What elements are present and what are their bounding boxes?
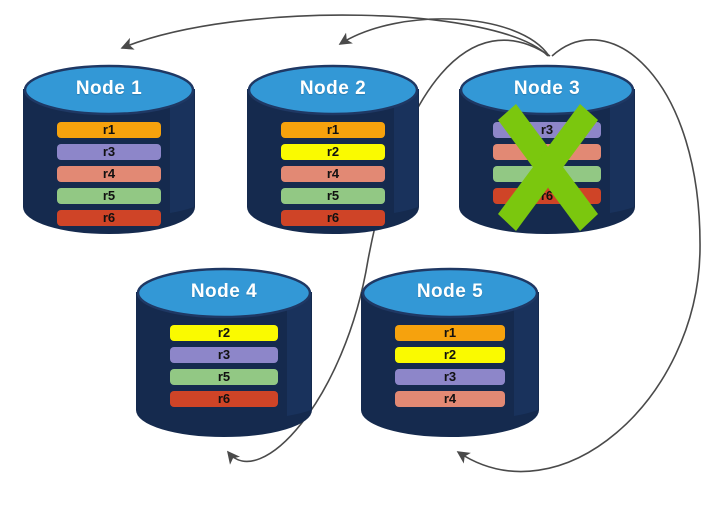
cylinder-top-face (363, 269, 537, 317)
cylinder-top-face (138, 269, 310, 317)
cylinder-top-face (249, 66, 417, 114)
replica-bar-r1[interactable]: r1 (395, 325, 505, 341)
replica-bar-r6[interactable]: r6 (170, 391, 278, 407)
replica-bar-r1[interactable]: r1 (281, 122, 385, 138)
arrow-node3-to-node2 (340, 19, 549, 56)
cylinder-top-face (461, 66, 633, 114)
replica-bar-r3[interactable]: r3 (57, 144, 161, 160)
database-node-1[interactable]: Node 1r1r3r4r5r6 (22, 62, 196, 235)
replica-bar-r3[interactable]: r3 (493, 122, 601, 138)
diagram-canvas: Node 1r1r3r4r5r6Node 2r1r2r4r5r6Node 3r3… (0, 0, 708, 508)
replica-bar-r4[interactable]: r4 (395, 391, 505, 407)
replica-bar-r4[interactable]: r4 (493, 144, 601, 160)
replica-bar-r3[interactable]: r3 (395, 369, 505, 385)
database-node-5[interactable]: Node 5r1r2r3r4 (360, 265, 540, 438)
replica-bar-r2[interactable]: r2 (170, 325, 278, 341)
replica-row-list: r2r3r5r6 (135, 325, 313, 413)
replica-row-list: r1r2r4r5r6 (246, 122, 420, 232)
arrow-node3-to-node1 (122, 15, 548, 56)
replica-bar-r4[interactable]: r4 (57, 166, 161, 182)
replica-bar-r6[interactable]: r6 (281, 210, 385, 226)
replica-row-list: r3r4r5r6 (458, 122, 636, 210)
replica-bar-r1[interactable]: r1 (57, 122, 161, 138)
replica-row-list: r1r2r3r4 (360, 325, 540, 413)
replica-bar-r5[interactable]: r5 (170, 369, 278, 385)
replica-row-list: r1r3r4r5r6 (22, 122, 196, 232)
replica-bar-r4[interactable]: r4 (281, 166, 385, 182)
cylinder-top-face (25, 66, 193, 114)
replica-bar-r5[interactable]: r5 (57, 188, 161, 204)
database-node-3[interactable]: Node 3r3r4r5r6 (458, 62, 636, 235)
database-node-4[interactable]: Node 4r2r3r5r6 (135, 265, 313, 438)
replica-bar-r3[interactable]: r3 (170, 347, 278, 363)
replica-bar-r5[interactable]: r5 (281, 188, 385, 204)
replica-bar-r2[interactable]: r2 (395, 347, 505, 363)
database-node-2[interactable]: Node 2r1r2r4r5r6 (246, 62, 420, 235)
replica-bar-r5[interactable]: r5 (493, 166, 601, 182)
replica-bar-r6[interactable]: r6 (57, 210, 161, 226)
replica-bar-r6[interactable]: r6 (493, 188, 601, 204)
replica-bar-r2[interactable]: r2 (281, 144, 385, 160)
